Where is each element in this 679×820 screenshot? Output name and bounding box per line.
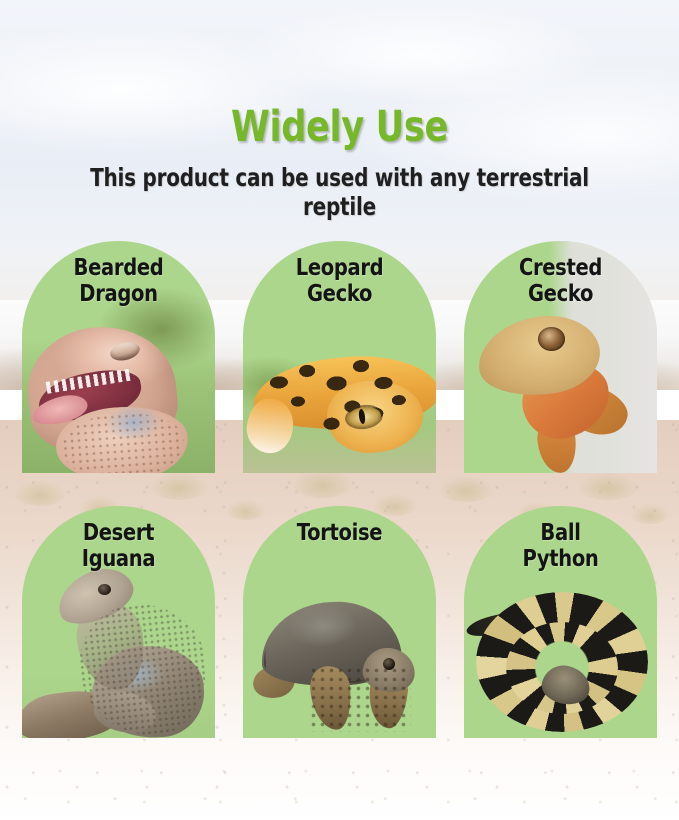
page-title: Widely Use xyxy=(61,0,618,151)
card-crested-gecko[interactable]: Crested Gecko xyxy=(464,241,657,473)
bearded-dragon-photo xyxy=(22,241,215,473)
card-bearded-dragon[interactable]: Bearded Dragon xyxy=(22,241,215,473)
crested-gecko-eye-shape xyxy=(538,327,565,351)
desert-iguana-eye-shape xyxy=(98,584,111,595)
ball-python-photo xyxy=(464,506,657,738)
page-subtitle: This product can be used with any terres… xyxy=(68,151,611,221)
tortoise-skin-texture xyxy=(309,666,411,732)
widely-use-infographic: Widely Use This product can be used with… xyxy=(0,0,679,820)
leopard-gecko-spot-pattern xyxy=(253,350,436,459)
tortoise-photo xyxy=(243,506,436,738)
leopard-gecko-photo xyxy=(243,241,436,473)
desert-iguana-photo xyxy=(22,506,215,738)
crested-gecko-photo xyxy=(464,241,657,473)
card-leopard-gecko[interactable]: Leopard Gecko xyxy=(243,241,436,473)
heading-block: Widely Use This product can be used with… xyxy=(0,0,679,221)
card-desert-iguana[interactable]: Desert Iguana xyxy=(22,506,215,738)
card-ball-python[interactable]: Ball Python xyxy=(464,506,657,738)
card-tortoise[interactable]: Tortoise xyxy=(243,506,436,738)
